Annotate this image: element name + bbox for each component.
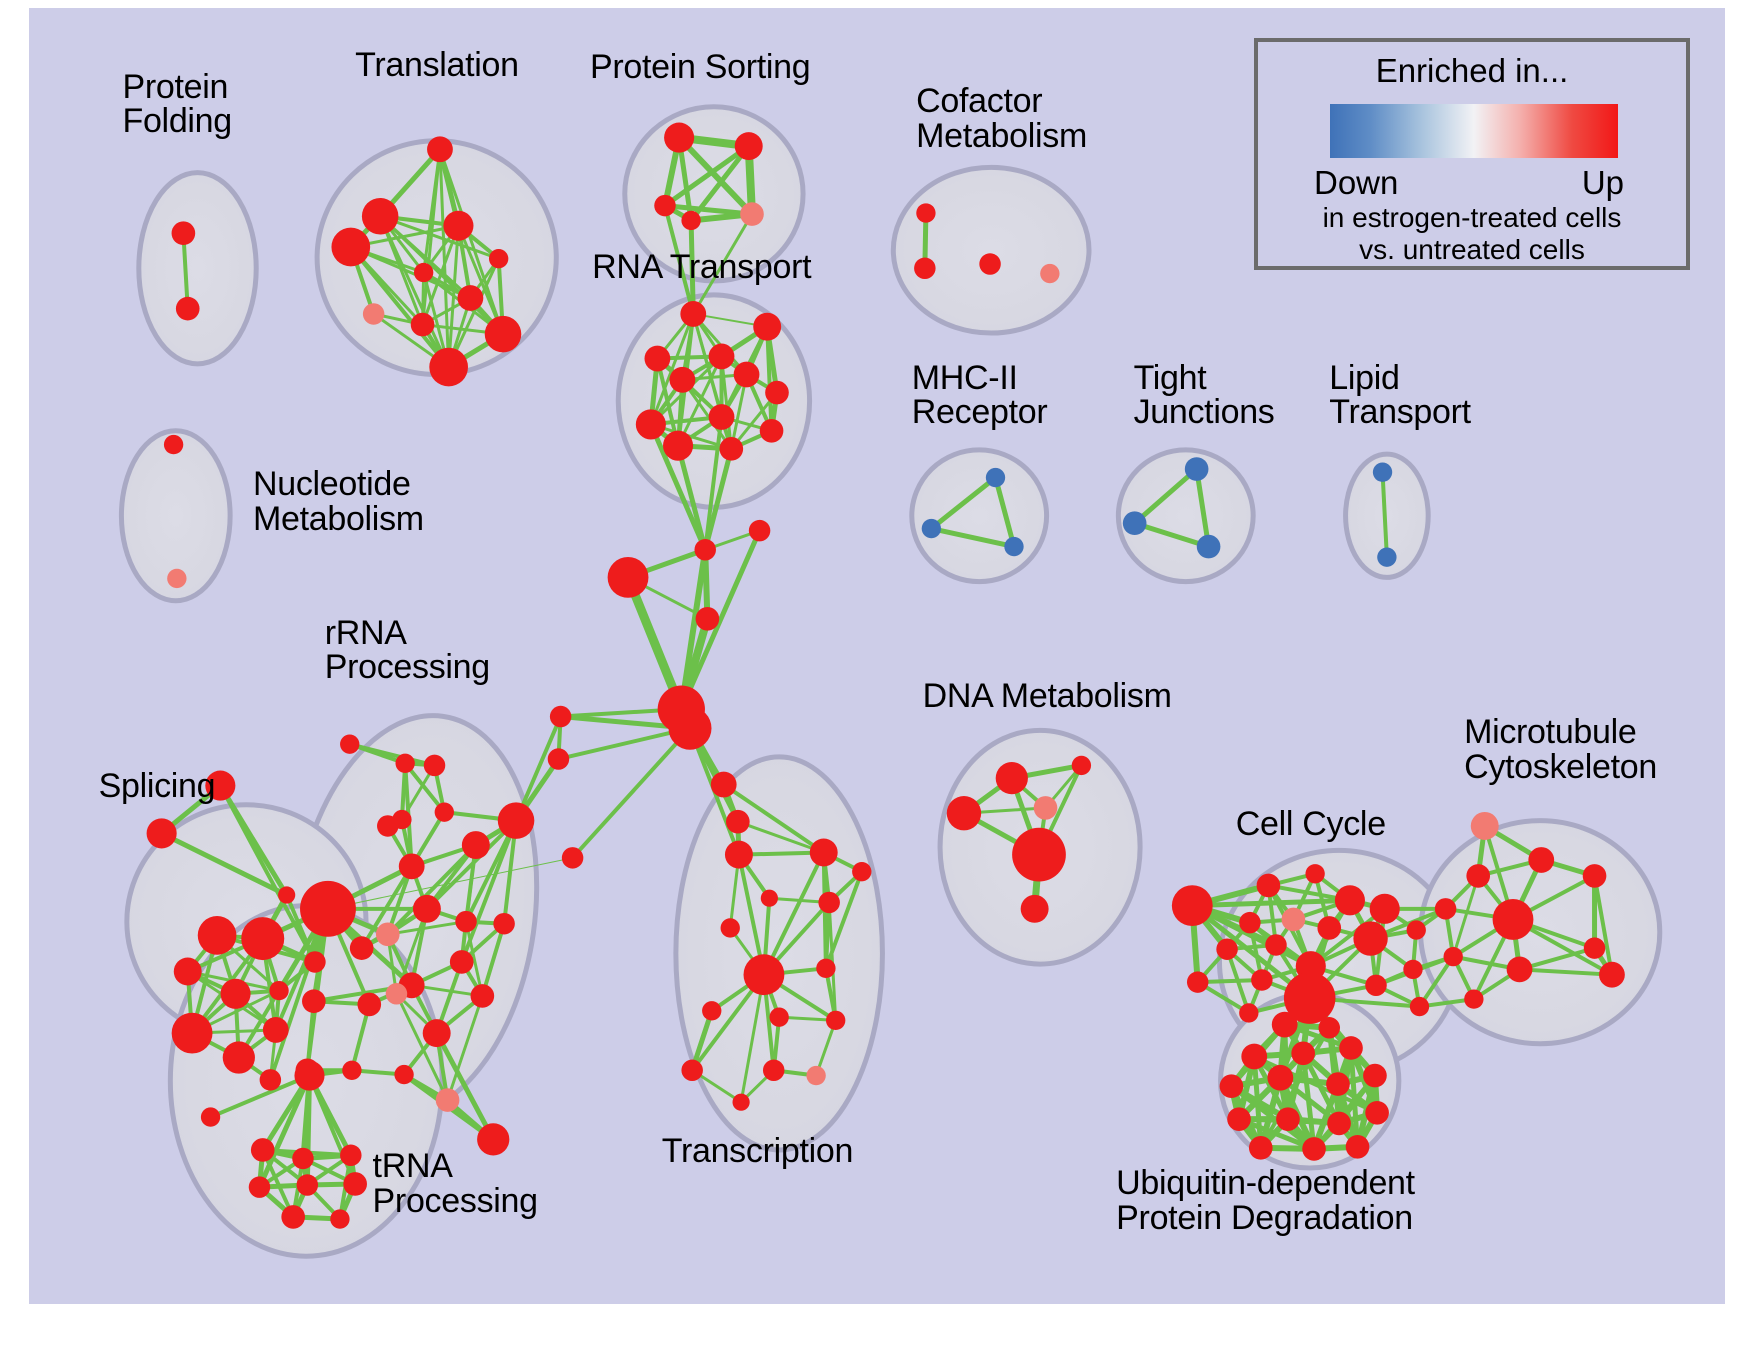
network-node-tn1[interactable] <box>294 1061 324 1091</box>
network-node-mt2[interactable] <box>1528 847 1554 873</box>
network-node-tc5[interactable] <box>761 890 778 907</box>
network-node-tn4[interactable] <box>292 1148 313 1169</box>
network-node-tn3[interactable] <box>251 1138 275 1162</box>
network-node-mh3[interactable] <box>1004 537 1023 556</box>
network-node-sp9[interactable] <box>172 1013 213 1054</box>
network-node-rr25[interactable] <box>436 1088 460 1112</box>
network-node-rr19[interactable] <box>386 983 407 1004</box>
network-node-rr6[interactable] <box>392 810 411 829</box>
network-node-tn8[interactable] <box>343 1172 367 1196</box>
network-node-sp7[interactable] <box>221 979 251 1009</box>
network-node-tr3[interactable] <box>443 211 473 241</box>
legend-up-label: Up <box>1582 164 1624 202</box>
network-node-ub3[interactable] <box>1241 1044 1267 1070</box>
network-node-dm2[interactable] <box>1072 756 1091 775</box>
network-node-mt5[interactable] <box>1493 899 1534 940</box>
network-node-dm4[interactable] <box>1034 796 1058 820</box>
network-node-nm2[interactable] <box>167 569 186 588</box>
network-node-ub10[interactable] <box>1227 1107 1251 1131</box>
network-node-lt2[interactable] <box>1377 548 1396 567</box>
network-node-mt11[interactable] <box>1464 989 1483 1008</box>
network-node-dm3[interactable] <box>947 796 981 830</box>
network-node-ps1[interactable] <box>664 123 694 153</box>
network-node-sp4[interactable] <box>198 916 237 955</box>
network-node-tr7[interactable] <box>457 285 483 311</box>
network-node-tc10[interactable] <box>816 959 835 978</box>
network-node-mt4[interactable] <box>1583 864 1607 888</box>
network-node-ub1[interactable] <box>1272 1012 1298 1038</box>
cluster-label-rrna-processing: rRNA Processing <box>325 616 490 685</box>
network-node-rr18[interactable] <box>357 993 381 1017</box>
network-node-cc1[interactable] <box>1172 885 1213 926</box>
network-node-tn5[interactable] <box>340 1145 361 1166</box>
network-node-cc4[interactable] <box>1335 885 1365 915</box>
network-node-rt9[interactable] <box>709 404 735 430</box>
network-node-pf1[interactable] <box>172 221 196 245</box>
network-node-mh1[interactable] <box>986 468 1005 487</box>
network-node-ub16[interactable] <box>1346 1135 1370 1159</box>
network-node-rt3[interactable] <box>709 344 735 370</box>
cluster-ellipse-transcription[interactable] <box>676 757 883 1150</box>
network-node-tr8[interactable] <box>363 303 384 324</box>
network-node-cc6[interactable] <box>1239 912 1260 933</box>
network-node-mt3[interactable] <box>1466 864 1490 888</box>
network-node-sp11[interactable] <box>223 1041 255 1073</box>
network-node-hub3[interactable] <box>608 557 649 598</box>
network-node-ps5[interactable] <box>740 202 764 226</box>
network-node-rr23[interactable] <box>342 1061 361 1080</box>
network-node-cc14[interactable] <box>1187 971 1208 992</box>
network-node-rr4[interactable] <box>395 754 414 773</box>
network-node-tn9[interactable] <box>281 1205 305 1229</box>
network-node-ub8[interactable] <box>1326 1072 1350 1096</box>
network-node-rr11[interactable] <box>455 911 476 932</box>
cluster-label-nucleotide-metabolism: Nucleotide Metabolism <box>253 467 424 536</box>
cluster-label-protein-folding: Protein Folding <box>122 70 231 139</box>
network-node-tc6[interactable] <box>852 862 871 881</box>
network-node-sp12[interactable] <box>260 1069 281 1090</box>
network-node-tc4[interactable] <box>810 839 838 867</box>
network-node-rr14[interactable] <box>493 913 514 934</box>
cluster-label-cell-cycle: Cell Cycle <box>1236 807 1386 842</box>
cluster-ellipse-cofactor-metabolism[interactable] <box>893 167 1089 333</box>
network-node-mt8[interactable] <box>1507 956 1533 982</box>
network-node-ub7[interactable] <box>1267 1065 1293 1091</box>
network-node-sp6[interactable] <box>174 958 202 986</box>
network-edge <box>307 1076 309 1185</box>
network-node-cc11[interactable] <box>1265 934 1286 955</box>
network-node-rr12[interactable] <box>300 881 356 937</box>
network-node-tr6[interactable] <box>414 263 433 282</box>
network-node-tc14[interactable] <box>681 1060 702 1081</box>
network-node-tj1[interactable] <box>1185 457 1209 481</box>
network-node-tc12[interactable] <box>702 1001 721 1020</box>
network-node-cc10[interactable] <box>1216 938 1237 959</box>
network-node-tc9[interactable] <box>744 954 785 995</box>
network-node-rt11[interactable] <box>663 431 693 461</box>
network-node-sp10[interactable] <box>263 1017 289 1043</box>
network-node-hub1[interactable] <box>694 539 715 560</box>
network-node-rr21[interactable] <box>302 989 326 1013</box>
network-node-sp2[interactable] <box>147 818 177 848</box>
cluster-label-dna-metabolism: DNA Metabolism <box>923 679 1172 714</box>
network-node-sp5[interactable] <box>241 917 284 960</box>
network-node-cf1[interactable] <box>916 203 935 222</box>
network-node-tc13[interactable] <box>826 1011 845 1030</box>
legend-title: Enriched in... <box>1258 52 1686 90</box>
legend-color-bar <box>1330 104 1618 158</box>
network-node-nm1[interactable] <box>164 435 183 454</box>
network-node-cc9[interactable] <box>1353 921 1387 955</box>
network-node-dm6[interactable] <box>1021 895 1049 923</box>
network-node-pf2[interactable] <box>176 297 200 321</box>
network-node-dm1[interactable] <box>996 762 1028 794</box>
network-node-rt8[interactable] <box>636 409 666 439</box>
network-node-rt2[interactable] <box>753 313 781 341</box>
network-node-cf2[interactable] <box>914 258 935 279</box>
network-node-mt9[interactable] <box>1584 937 1605 958</box>
network-node-hub4[interactable] <box>696 607 720 631</box>
legend-panel: Enriched in... Down Up in estrogen-treat… <box>1254 38 1690 270</box>
network-node-rt4[interactable] <box>644 346 670 372</box>
network-node-cc16[interactable] <box>1403 960 1422 979</box>
network-node-ub14[interactable] <box>1249 1136 1273 1160</box>
network-node-rr8[interactable] <box>462 831 490 859</box>
network-node-ps3[interactable] <box>654 195 675 216</box>
cluster-label-microtubule-cytoskeleton: Microtubule Cytoskeleton <box>1464 715 1657 784</box>
network-node-tc3[interactable] <box>725 841 753 869</box>
network-node-tr4[interactable] <box>331 228 370 267</box>
network-edge <box>573 728 690 858</box>
network-node-ub2[interactable] <box>1319 1017 1340 1038</box>
cluster-ellipse-protein-folding[interactable] <box>139 173 256 364</box>
network-node-tc15[interactable] <box>763 1060 784 1081</box>
cluster-label-protein-sorting: Protein Sorting <box>590 50 810 85</box>
network-node-tn2[interactable] <box>201 1107 220 1126</box>
network-node-tc16[interactable] <box>806 1066 825 1085</box>
network-node-hub6[interactable] <box>669 707 712 750</box>
network-node-tn7[interactable] <box>297 1174 318 1195</box>
network-node-tj2[interactable] <box>1123 511 1147 535</box>
network-node-cf4[interactable] <box>1040 264 1059 283</box>
network-node-tj3[interactable] <box>1197 535 1221 559</box>
network-node-lt1[interactable] <box>1373 463 1392 482</box>
network-node-rr10[interactable] <box>413 895 441 923</box>
network-node-tr9[interactable] <box>411 313 435 337</box>
cluster-label-cofactor-metabolism: Cofactor Metabolism <box>916 84 1087 153</box>
network-node-rt5[interactable] <box>669 367 695 393</box>
cluster-label-transcription: Transcription <box>662 1134 853 1169</box>
network-node-rt6[interactable] <box>734 362 760 388</box>
cluster-label-translation: Translation <box>355 48 519 83</box>
network-node-ub4[interactable] <box>1291 1041 1315 1065</box>
network-node-rr16[interactable] <box>450 950 474 974</box>
network-node-tc17[interactable] <box>733 1094 750 1111</box>
network-node-cf3[interactable] <box>979 253 1000 274</box>
network-node-tc2[interactable] <box>726 810 750 834</box>
network-node-rt7[interactable] <box>765 381 789 405</box>
legend-subtitle: in estrogen-treated cells vs. untreated … <box>1258 202 1686 266</box>
network-node-hub8[interactable] <box>548 748 569 769</box>
network-node-sp3[interactable] <box>278 886 295 903</box>
network-node-rt1[interactable] <box>680 301 706 327</box>
network-node-cc18[interactable] <box>1365 975 1386 996</box>
network-node-mt1[interactable] <box>1471 812 1499 840</box>
network-node-rt12[interactable] <box>719 437 743 461</box>
network-node-sp8[interactable] <box>269 981 288 1000</box>
network-node-tn6[interactable] <box>249 1176 270 1197</box>
cluster-label-lipid-transport: Lipid Transport <box>1329 361 1471 430</box>
network-node-ub13[interactable] <box>1365 1101 1389 1125</box>
network-node-hub9[interactable] <box>562 847 583 868</box>
network-node-rr24[interactable] <box>394 1065 413 1084</box>
network-node-mt6[interactable] <box>1435 898 1456 919</box>
network-node-cc19[interactable] <box>1239 1003 1258 1022</box>
network-node-tc11[interactable] <box>769 1008 788 1027</box>
network-node-rr22[interactable] <box>423 1019 451 1047</box>
network-node-cc15[interactable] <box>1251 969 1272 990</box>
cluster-label-splicing: Splicing <box>99 769 216 804</box>
cluster-label-tight-junctions: Tight Junctions <box>1134 361 1275 430</box>
cluster-label-ubiquitin-degradation: Ubiquitin-dependent Protein Degradation <box>1116 1166 1415 1235</box>
cluster-ellipse-mhc-ii-receptor[interactable] <box>912 450 1047 582</box>
network-node-ps2[interactable] <box>735 132 763 160</box>
network-node-hub2[interactable] <box>749 520 770 541</box>
network-node-ub15[interactable] <box>1302 1137 1326 1161</box>
network-node-ub11[interactable] <box>1276 1107 1300 1131</box>
network-node-cc7[interactable] <box>1282 908 1306 932</box>
network-node-tr2[interactable] <box>362 198 399 235</box>
network-node-cc8[interactable] <box>1317 916 1341 940</box>
network-node-sp13[interactable] <box>304 951 325 972</box>
network-node-tr1[interactable] <box>427 136 453 162</box>
network-node-rr15[interactable] <box>350 936 374 960</box>
network-node-mh2[interactable] <box>922 519 941 538</box>
cluster-label-trna-processing: tRNA Processing <box>373 1149 538 1218</box>
network-node-rr13[interactable] <box>376 922 400 946</box>
network-node-tc8[interactable] <box>818 892 839 913</box>
network-node-cc5[interactable] <box>1370 894 1400 924</box>
network-node-dm5[interactable] <box>1012 828 1066 882</box>
network-node-rt10[interactable] <box>760 419 784 443</box>
network-node-tn10[interactable] <box>330 1209 349 1228</box>
network-node-hub7[interactable] <box>550 706 571 727</box>
network-node-cc3[interactable] <box>1305 864 1324 883</box>
network-node-cc20[interactable] <box>1410 997 1429 1016</box>
cluster-label-mhc-ii-receptor: MHC-II Receptor <box>912 361 1048 430</box>
network-node-rr7[interactable] <box>498 802 535 839</box>
network-node-tr5[interactable] <box>489 249 508 268</box>
network-node-rr9[interactable] <box>399 853 425 879</box>
network-node-rr20[interactable] <box>471 984 495 1008</box>
network-node-cc2[interactable] <box>1257 874 1281 898</box>
network-node-tc7[interactable] <box>721 918 740 937</box>
network-node-ub12[interactable] <box>1327 1112 1351 1136</box>
network-node-tr11[interactable] <box>429 348 468 387</box>
network-node-mt7[interactable] <box>1444 947 1463 966</box>
network-node-rr3[interactable] <box>424 755 445 776</box>
network-node-ub5[interactable] <box>1339 1036 1363 1060</box>
network-node-rr2[interactable] <box>340 734 359 753</box>
legend-down-label: Down <box>1314 164 1398 202</box>
cluster-label-rna-transport: RNA Transport <box>592 250 811 285</box>
network-node-tc1[interactable] <box>711 772 737 798</box>
network-node-ub9[interactable] <box>1363 1064 1387 1088</box>
network-node-rr5[interactable] <box>435 802 454 821</box>
network-node-cc12[interactable] <box>1407 920 1426 939</box>
network-figure: Protein FoldingTranslationProtein Sortin… <box>0 0 1750 1360</box>
network-node-tr10[interactable] <box>485 316 522 353</box>
network-node-ub6[interactable] <box>1220 1074 1244 1098</box>
network-node-mt10[interactable] <box>1599 962 1625 988</box>
network-node-ps4[interactable] <box>681 211 700 230</box>
